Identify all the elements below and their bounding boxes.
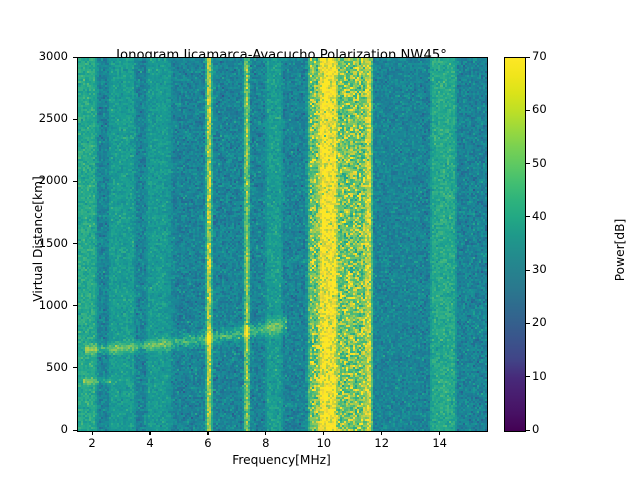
x-tick-mark <box>323 431 324 435</box>
y-tick-mark <box>73 57 77 58</box>
colorbar-tick-label: 50 <box>532 156 547 170</box>
ionogram-plot-area <box>77 57 488 432</box>
ionogram-figure: Ionogram Jicamarca-Ayacucho Polarization… <box>0 0 640 480</box>
x-axis-label: Frequency[MHz] <box>77 453 486 467</box>
colorbar-tick-mark <box>526 57 530 58</box>
x-tick-label: 12 <box>362 436 402 450</box>
colorbar-tick-label: 0 <box>532 422 539 436</box>
y-tick-mark <box>73 181 77 182</box>
x-tick-label: 14 <box>420 436 460 450</box>
y-axis-label: Virtual Distance[km] <box>31 119 45 359</box>
x-tick-label: 2 <box>72 436 112 450</box>
x-tick-mark <box>265 431 266 435</box>
colorbar-tick-label: 60 <box>532 102 547 116</box>
x-tick-label: 8 <box>246 436 286 450</box>
colorbar-tick-mark <box>526 430 530 431</box>
y-tick-label: 3000 <box>0 49 68 63</box>
colorbar-tick-label: 10 <box>532 369 547 383</box>
colorbar-tick-label: 30 <box>532 262 547 276</box>
x-tick-label: 4 <box>130 436 170 450</box>
x-tick-label: 10 <box>304 436 344 450</box>
x-tick-mark <box>149 431 150 435</box>
colorbar-tick-label: 20 <box>532 315 547 329</box>
colorbar-tick-mark <box>526 376 530 377</box>
colorbar-tick-label: 40 <box>532 209 547 223</box>
colorbar-gradient <box>504 57 526 432</box>
colorbar-tick-mark <box>526 163 530 164</box>
x-tick-mark <box>207 431 208 435</box>
y-tick-mark <box>73 305 77 306</box>
x-tick-mark <box>381 431 382 435</box>
x-tick-mark <box>92 431 93 435</box>
x-tick-mark <box>439 431 440 435</box>
colorbar-tick-label: 70 <box>532 49 547 63</box>
colorbar-tick-mark <box>526 216 530 217</box>
y-tick-label: 500 <box>0 360 68 374</box>
colorbar-tick-mark <box>526 270 530 271</box>
y-tick-mark <box>73 119 77 120</box>
x-tick-label: 6 <box>188 436 228 450</box>
colorbar-tick-mark <box>526 110 530 111</box>
colorbar-label: Power[dB] <box>613 130 627 370</box>
y-tick-mark <box>73 430 77 431</box>
ionogram-heatmap <box>78 58 487 431</box>
colorbar-tick-mark <box>526 323 530 324</box>
y-tick-mark <box>73 243 77 244</box>
y-tick-mark <box>73 367 77 368</box>
y-tick-label: 0 <box>0 422 68 436</box>
